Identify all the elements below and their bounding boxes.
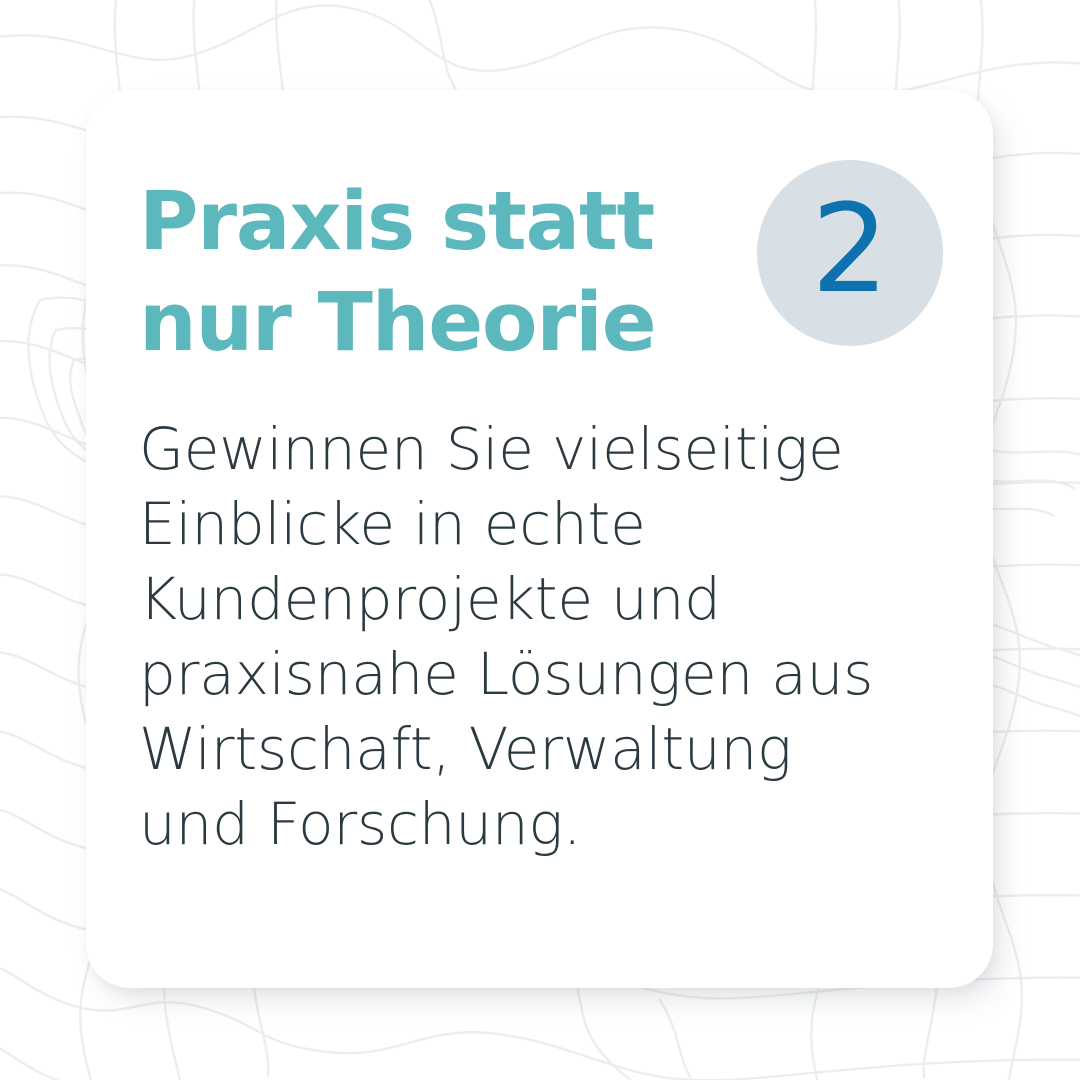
- title-line-2: nur Theorie: [139, 273, 699, 374]
- body-line-1: Gewinnen Sie vielseitige: [139, 412, 939, 487]
- content-card: 2 Praxis statt nur Theorie Gewinnen Sie …: [86, 90, 993, 988]
- body-line-5: Wirtschaft, Verwaltung: [139, 712, 939, 787]
- body-line-3: Kundenprojekte und: [139, 562, 939, 637]
- body-line-2: Einblicke in echte: [139, 487, 939, 562]
- body-line-4: praxisnahe Lösungen aus: [139, 637, 939, 712]
- badge-number-label: 2: [811, 188, 889, 310]
- page-title: Praxis statt nur Theorie: [139, 172, 699, 374]
- number-badge-circle: 2: [757, 160, 943, 346]
- title-line-1: Praxis statt: [139, 172, 699, 273]
- body-text: Gewinnen Sie vielseitige Einblicke in ec…: [139, 412, 939, 862]
- body-line-6: und Forschung.: [139, 787, 939, 862]
